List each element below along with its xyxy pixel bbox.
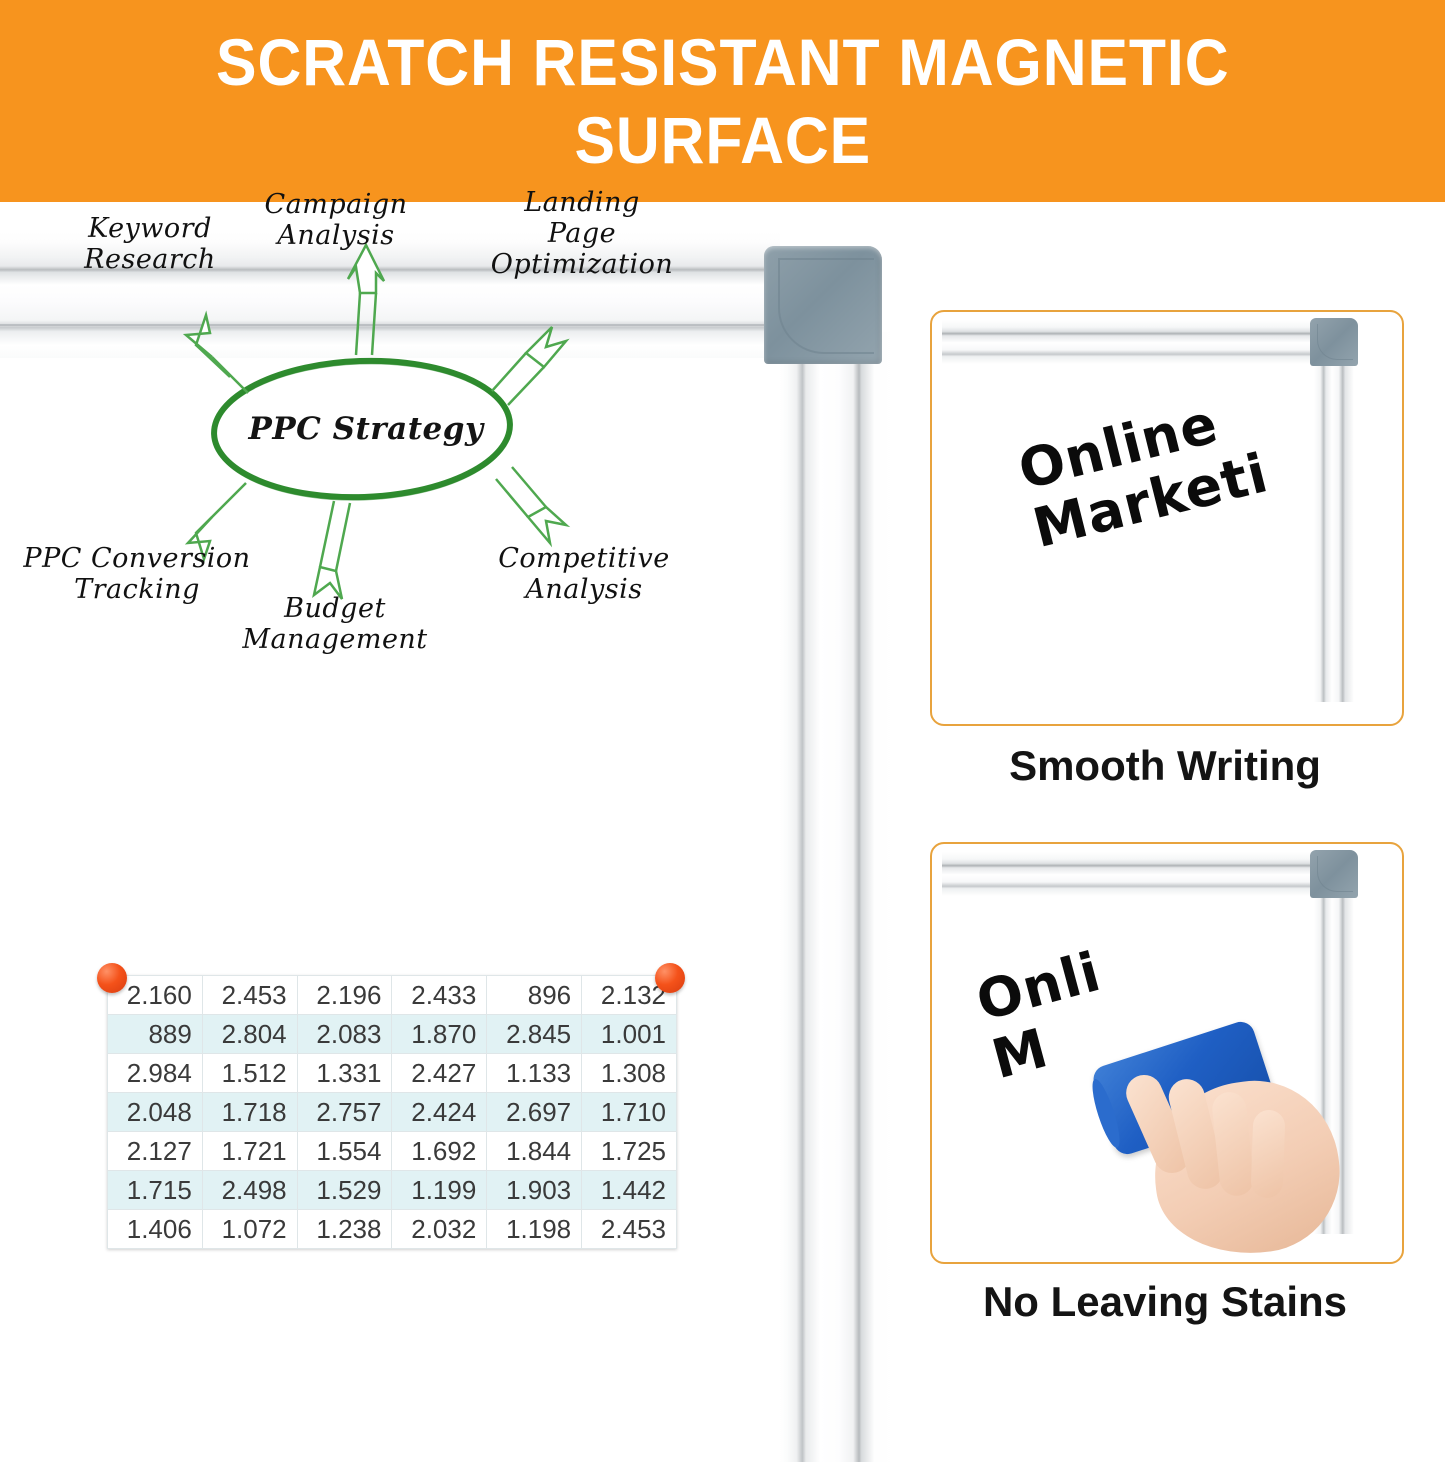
table-row: 1.7152.4981.5291.1991.9031.442 (108, 1171, 677, 1210)
arrow-budget-management (314, 501, 350, 599)
table-cell: 1.001 (582, 1015, 677, 1054)
panel-right-rail (1314, 352, 1354, 702)
table-cell: 1.692 (392, 1132, 487, 1171)
table-cell: 2.498 (202, 1171, 297, 1210)
table-cell: 1.442 (582, 1171, 677, 1210)
table-row: 1.4061.0721.2382.0321.1982.453 (108, 1210, 677, 1249)
magnet-button-right[interactable] (655, 963, 685, 993)
table-cell: 1.406 (108, 1210, 203, 1249)
table-cell: 1.529 (297, 1171, 392, 1210)
table-cell: 896 (487, 976, 582, 1015)
table-cell: 1.308 (582, 1054, 677, 1093)
table-cell: 2.427 (392, 1054, 487, 1093)
table-cell: 1.199 (392, 1171, 487, 1210)
table-cell: 2.804 (202, 1015, 297, 1054)
table-cell: 2.984 (108, 1054, 203, 1093)
table-cell: 1.725 (582, 1132, 677, 1171)
table-cell: 2.845 (487, 1015, 582, 1054)
table-cell: 1.133 (487, 1054, 582, 1093)
diagram-label-landing-page-optimization: Landing Page Optimization (456, 187, 708, 280)
handwriting-online-marketing: Online Marketi (1013, 385, 1274, 560)
table-row: 2.9841.5121.3312.4271.1331.308 (108, 1054, 677, 1093)
diagram-label-competitive-analysis: Competitive Analysis (474, 543, 694, 605)
table-cell: 1.715 (108, 1171, 203, 1210)
table-cell: 2.697 (487, 1093, 582, 1132)
table-cell: 2.032 (392, 1210, 487, 1249)
arrow-competitive-analysis (496, 467, 566, 543)
table-cell: 1.870 (392, 1015, 487, 1054)
panel-smooth-writing: Online Marketi (930, 310, 1404, 726)
table-cell: 1.718 (202, 1093, 297, 1132)
arrow-landing-page-optimization (492, 327, 566, 405)
table-cell: 1.710 (582, 1093, 677, 1132)
diagram-label-keyword-research: Keyword Research (60, 213, 240, 275)
arrow-campaign-analysis (348, 245, 384, 355)
caption-no-leaving-stains: No Leaving Stains (930, 1278, 1400, 1326)
diagram-label-budget-management: Budget Management (220, 593, 450, 655)
table-cell: 1.072 (202, 1210, 297, 1249)
table-cell: 2.453 (202, 976, 297, 1015)
ppc-strategy-diagram: Keyword Research Campaign Analysis Landi… (60, 195, 740, 695)
panel-corner-cap-icon (1310, 318, 1358, 366)
hand-with-eraser-illustration (1082, 1034, 1382, 1264)
table-cell: 2.196 (297, 976, 392, 1015)
panel2-top-rail (942, 852, 1330, 896)
hand-finger-pinky (1250, 1109, 1285, 1198)
table-cell: 2.453 (582, 1210, 677, 1249)
table-cell: 1.721 (202, 1132, 297, 1171)
table-row: 2.1602.4532.1962.4338962.132 (108, 976, 677, 1015)
caption-smooth-writing: Smooth Writing (930, 742, 1400, 790)
panel-no-leaving-stains: Onli M ɔ (930, 842, 1404, 1264)
table-cell: 2.433 (392, 976, 487, 1015)
table-cell: 2.048 (108, 1093, 203, 1132)
number-table-body: 2.1602.4532.1962.4338962.1328892.8042.08… (108, 976, 677, 1249)
panel-top-rail (942, 320, 1330, 364)
table-cell: 2.083 (297, 1015, 392, 1054)
whiteboard-corner-cap-icon (764, 246, 882, 364)
table-row: 2.0481.7182.7572.4242.6971.710 (108, 1093, 677, 1132)
table-cell: 1.198 (487, 1210, 582, 1249)
table-cell: 2.127 (108, 1132, 203, 1171)
table-row: 2.1271.7211.5541.6921.8441.725 (108, 1132, 677, 1171)
table-cell: 2.424 (392, 1093, 487, 1132)
whiteboard-right-rail (780, 332, 898, 1462)
banner-headline: SCRATCH RESISTANT MAGNETIC SURFACE (184, 23, 1262, 179)
table-cell: 1.554 (297, 1132, 392, 1171)
number-table: 2.1602.4532.1962.4338962.1328892.8042.08… (107, 975, 677, 1249)
panel2-corner-cap-icon (1310, 850, 1358, 898)
table-cell: 1.331 (297, 1054, 392, 1093)
magnet-held-number-table: 2.1602.4532.1962.4338962.1328892.8042.08… (107, 975, 677, 1243)
magnet-button-left[interactable] (97, 963, 127, 993)
arrow-keyword-research (186, 315, 248, 393)
diagram-center-label: PPC Strategy (246, 411, 486, 447)
table-cell: 1.238 (297, 1210, 392, 1249)
table-cell: 1.903 (487, 1171, 582, 1210)
header-banner: SCRATCH RESISTANT MAGNETIC SURFACE (0, 0, 1445, 202)
table-cell: 1.844 (487, 1132, 582, 1171)
table-cell: 2.757 (297, 1093, 392, 1132)
table-cell: 1.512 (202, 1054, 297, 1093)
table-row: 8892.8042.0831.8702.8451.001 (108, 1015, 677, 1054)
table-cell: 889 (108, 1015, 203, 1054)
diagram-label-campaign-analysis: Campaign Analysis (236, 189, 436, 251)
